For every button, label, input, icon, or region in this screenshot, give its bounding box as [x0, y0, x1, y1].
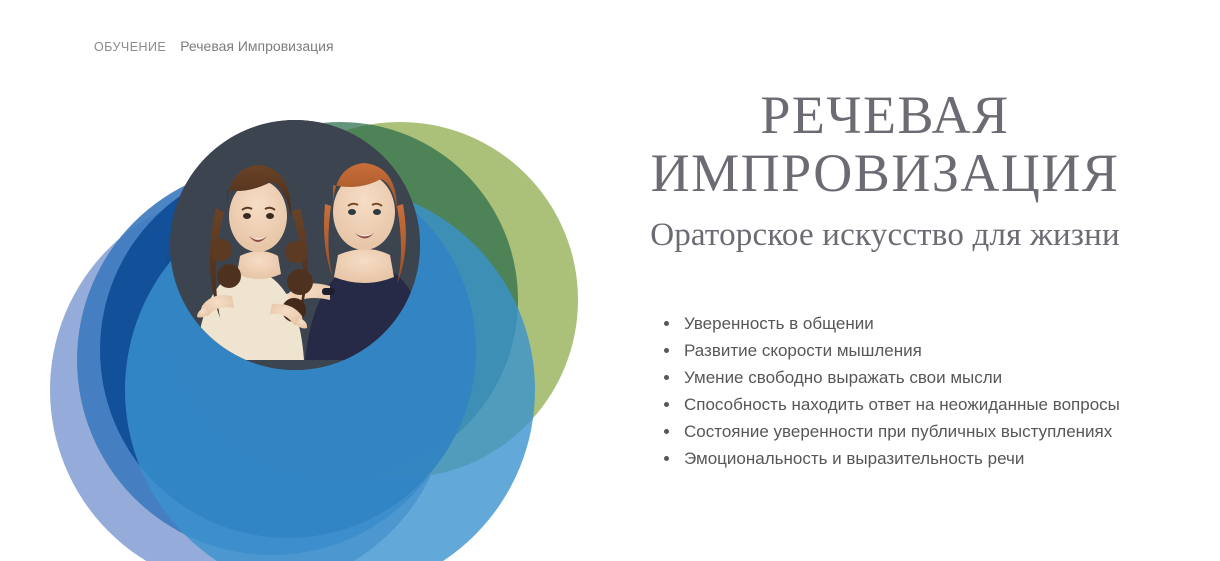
bullet-dot: [664, 429, 669, 434]
list-item: Развитие скорости мышления: [662, 337, 1180, 364]
bullet-dot: [664, 402, 669, 407]
page-subtitle: Ораторское искусство для жизни: [620, 217, 1150, 254]
benefit-text: Развитие скорости мышления: [684, 341, 922, 360]
list-item: Способность находить ответ на неожиданны…: [662, 391, 1180, 418]
benefit-text: Эмоциональность и выразительность речи: [684, 449, 1024, 468]
benefit-text: Способность находить ответ на неожиданны…: [684, 395, 1120, 414]
page-title-line-1: РЕЧЕВАЯ: [620, 86, 1150, 144]
list-item: Уверенность в общении: [662, 310, 1180, 337]
bullet-dot: [664, 348, 669, 353]
breadcrumb-item-current[interactable]: Речевая Импровизация: [180, 38, 333, 54]
overlapping-circles-illustration: [0, 60, 620, 561]
benefit-text: Умение свободно выражать свои мысли: [684, 368, 1002, 387]
bullet-dot: [664, 375, 669, 380]
benefits-list: Уверенность в общении Развитие скорости …: [662, 310, 1180, 472]
benefit-text: Уверенность в общении: [684, 314, 874, 333]
bullet-dot: [664, 321, 669, 326]
breadcrumb: ОБУЧЕНИЕ Речевая Импровизация: [94, 38, 334, 54]
list-item: Умение свободно выражать свои мысли: [662, 364, 1180, 391]
page-title: РЕЧЕВАЯ ИМПРОВИЗАЦИЯ: [620, 86, 1150, 203]
list-item: Эмоциональность и выразительность речи: [662, 445, 1180, 472]
hero-content: РЕЧЕВАЯ ИМПРОВИЗАЦИЯ Ораторское искусств…: [620, 86, 1180, 472]
hero-graphic: [0, 60, 620, 561]
page-title-line-2: ИМПРОВИЗАЦИЯ: [620, 144, 1150, 202]
list-item: Состояние уверенности при публичных выст…: [662, 418, 1180, 445]
bullet-dot: [664, 456, 669, 461]
benefit-text: Состояние уверенности при публичных выст…: [684, 422, 1112, 441]
page-root: ОБУЧЕНИЕ Речевая Импровизация: [0, 0, 1220, 561]
breadcrumb-item-root[interactable]: ОБУЧЕНИЕ: [94, 40, 166, 54]
